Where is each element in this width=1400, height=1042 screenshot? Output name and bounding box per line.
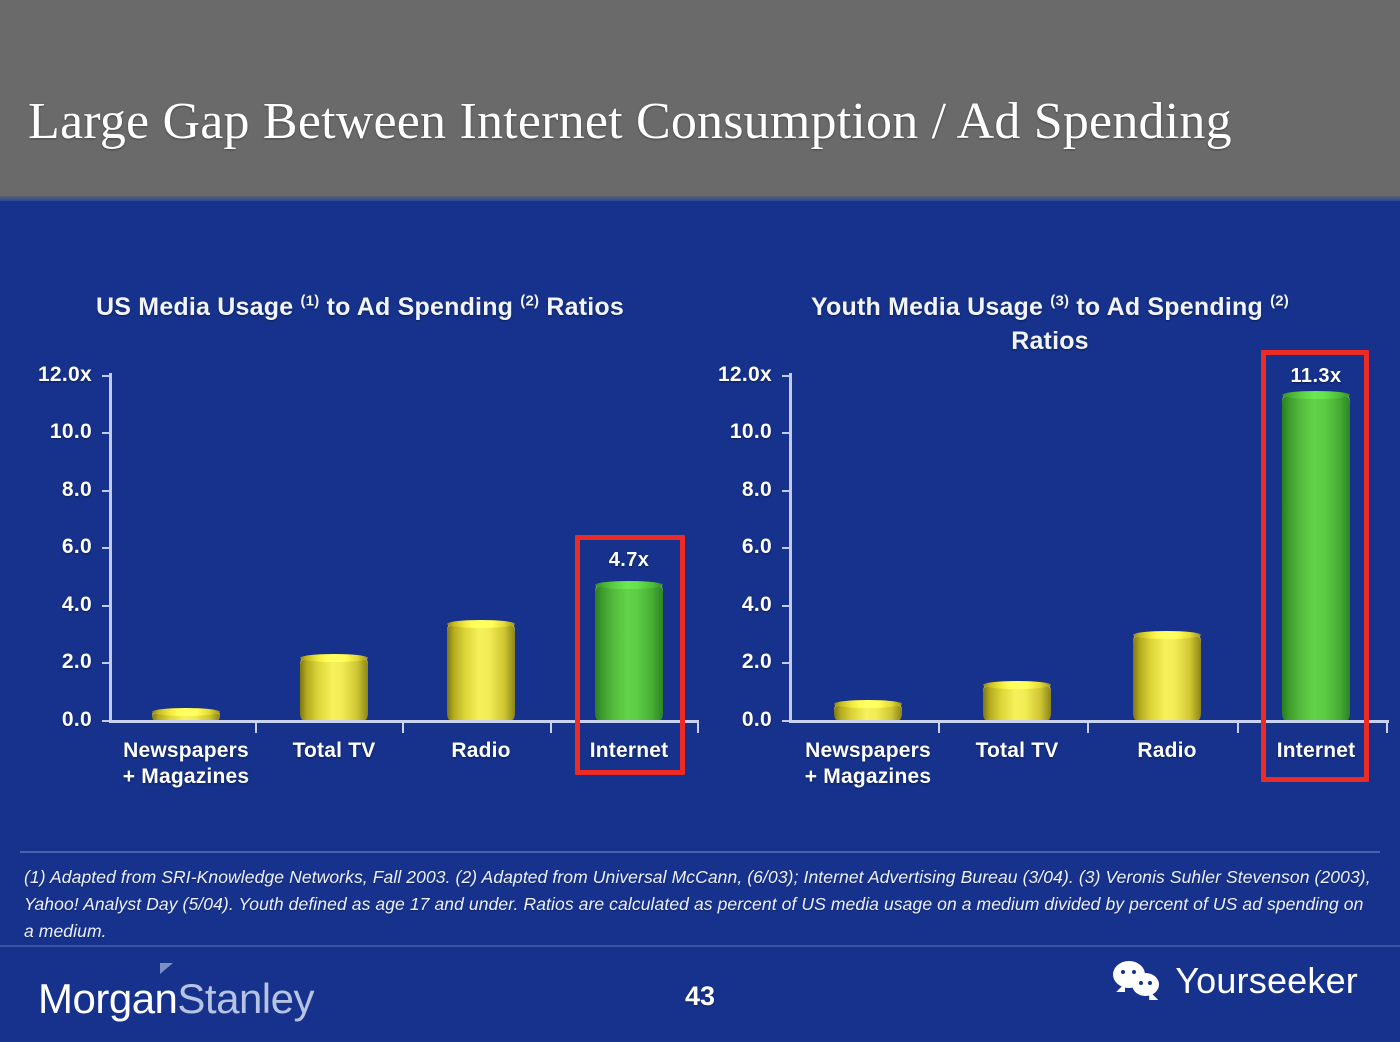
x-tick-3	[550, 722, 552, 733]
wechat-bubble-small	[1132, 973, 1159, 996]
x-tick-1	[938, 722, 940, 733]
bar-newspapers-magazines	[834, 704, 902, 720]
y-tick-4	[102, 605, 111, 607]
y-tick-label-8: 8.0	[10, 478, 92, 502]
y-tick-label-4: 4.0	[700, 593, 772, 617]
bar-newspapers-magazines	[152, 712, 220, 720]
chart-panel-youth-media: Youth Media Usage (3) to Ad Spending (2)…	[700, 201, 1400, 821]
y-tick-8	[782, 490, 791, 492]
x-label-radio: Radio	[1093, 738, 1241, 764]
y-tick-label-10: 10.0	[10, 420, 92, 444]
x-label-line-1: Newspapers	[788, 738, 948, 764]
x-tick-4	[697, 722, 699, 733]
wechat-icon	[1113, 961, 1165, 1001]
y-tick-8	[102, 490, 111, 492]
highlight-box-internet	[1261, 350, 1369, 782]
slide-body: US Media Usage (1) to Ad Spending (2) Ra…	[0, 201, 1400, 1042]
bar-total-tv	[983, 685, 1051, 720]
x-label-newspapers-magazines: Newspapers + Magazines	[106, 738, 266, 791]
y-tick-label-6: 6.0	[10, 535, 92, 559]
x-label-line-1: Newspapers	[106, 738, 266, 764]
x-label-radio: Radio	[407, 738, 555, 764]
slide-root: Large Gap Between Internet Consumption /…	[0, 0, 1400, 1042]
y-tick-label-8: 8.0	[700, 478, 772, 502]
x-label-internet: Internet	[1242, 738, 1390, 764]
morgan-stanley-mark-icon	[160, 963, 173, 974]
x-tick-2	[402, 722, 404, 733]
y-tick-6	[782, 547, 791, 549]
footnote-text: (1) Adapted from SRI-Knowledge Networks,…	[24, 864, 1374, 945]
y-tick-2	[102, 662, 111, 664]
x-label-newspapers-magazines: Newspapers + Magazines	[788, 738, 948, 791]
x-label-total-tv: Total TV	[260, 738, 408, 764]
x-tick-4	[1386, 722, 1388, 733]
chart-panel-us-media: US Media Usage (1) to Ad Spending (2) Ra…	[10, 201, 710, 821]
y-tick-10	[782, 432, 791, 434]
x-label-internet: Internet	[555, 738, 703, 764]
y-tick-label-0: 0.0	[10, 708, 92, 732]
chart-plot-youth-media: 0.0 2.0 4.0 6.0 8.0 10.0 12.0x 11.3x	[700, 201, 1400, 821]
x-tick-1	[255, 722, 257, 733]
x-label-line-2: + Magazines	[106, 764, 266, 790]
x-tick-2	[1087, 722, 1089, 733]
chart-plot-us-media: 0.0 2.0 4.0 6.0 8.0 10.0 12.0x 4.7x	[10, 201, 710, 821]
x-label-total-tv: Total TV	[943, 738, 1091, 764]
y-tick-6	[102, 547, 111, 549]
bar-total-tv	[300, 658, 368, 720]
x-tick-3	[1237, 722, 1239, 733]
y-tick-label-2: 2.0	[700, 650, 772, 674]
page-title: Large Gap Between Internet Consumption /…	[28, 92, 1378, 151]
y-tick-label-10: 10.0	[700, 420, 772, 444]
x-label-line-2: + Magazines	[788, 764, 948, 790]
bar-radio	[447, 624, 515, 720]
footnote-divider	[20, 851, 1380, 853]
brand-name-text: Yourseeker	[1175, 960, 1358, 1002]
y-tick-label-4: 4.0	[10, 593, 92, 617]
y-tick-10	[102, 432, 111, 434]
brand-watermark: Yourseeker	[1113, 960, 1358, 1002]
y-tick-label-0: 0.0	[700, 708, 772, 732]
y-tick-label-6: 6.0	[700, 535, 772, 559]
y-tick-4	[782, 605, 791, 607]
y-tick-12	[102, 375, 111, 377]
y-tick-label-12: 12.0x	[10, 363, 92, 387]
footer-divider	[0, 945, 1400, 947]
y-tick-label-12: 12.0x	[700, 363, 772, 387]
y-tick-2	[782, 662, 791, 664]
y-tick-label-2: 2.0	[10, 650, 92, 674]
y-tick-12	[782, 375, 791, 377]
bar-radio	[1133, 635, 1201, 720]
